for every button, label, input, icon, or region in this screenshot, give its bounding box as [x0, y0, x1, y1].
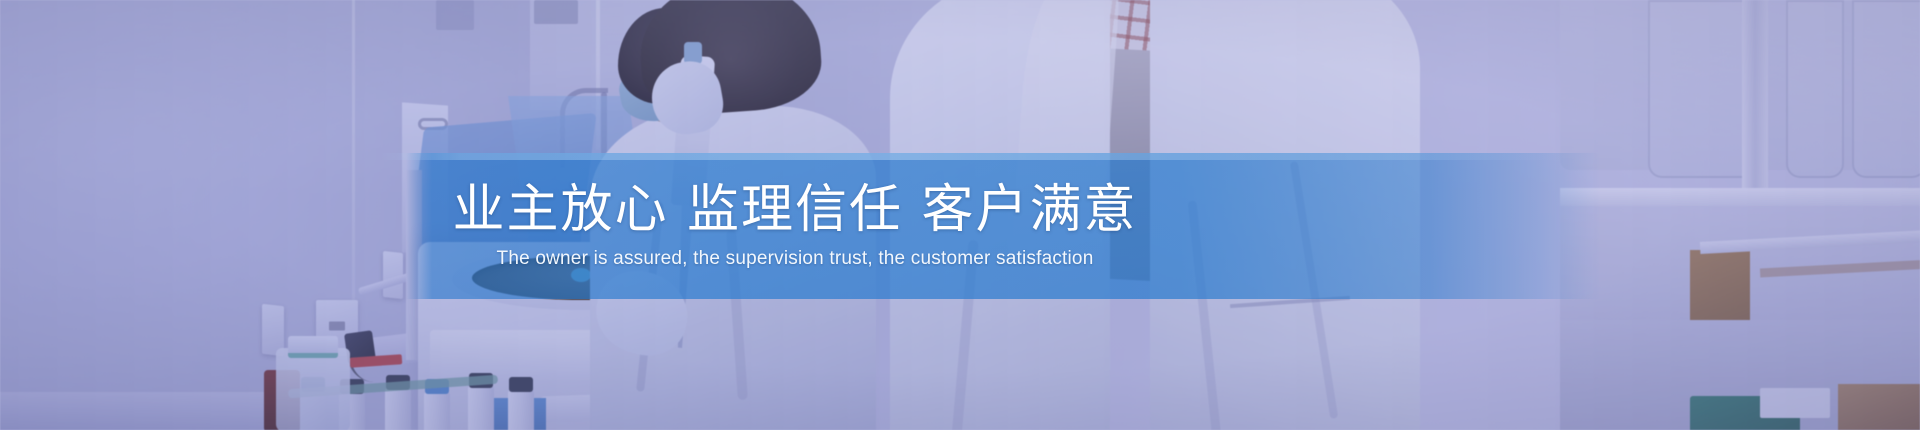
reagent-vial [508, 390, 534, 430]
cardboard-box-lower [1838, 384, 1920, 430]
wall-sign [436, 0, 474, 30]
left-bench [0, 392, 300, 430]
banner-text-block: 业主放心 监理信任 客户满意 The owner is assured, the… [0, 153, 1920, 299]
reagent-vial [468, 386, 494, 430]
bottle-cap [288, 336, 338, 358]
reagent-vial [385, 388, 411, 430]
cabinet-door [1786, 0, 1844, 178]
banner-headline: 业主放心 监理信任 客户满意 [452, 182, 1137, 239]
cabinet-door [1852, 0, 1920, 178]
hero-banner: 业主放心 监理信任 客户满意 The owner is assured, the… [0, 0, 1920, 430]
clear-water-bottle [276, 348, 350, 430]
banner-subheadline: The owner is assured, the supervision tr… [497, 248, 1094, 271]
white-container [1760, 388, 1830, 418]
reagent-vial [424, 392, 450, 430]
cabinet-handle [534, 0, 578, 24]
socket-hole [329, 321, 345, 330]
